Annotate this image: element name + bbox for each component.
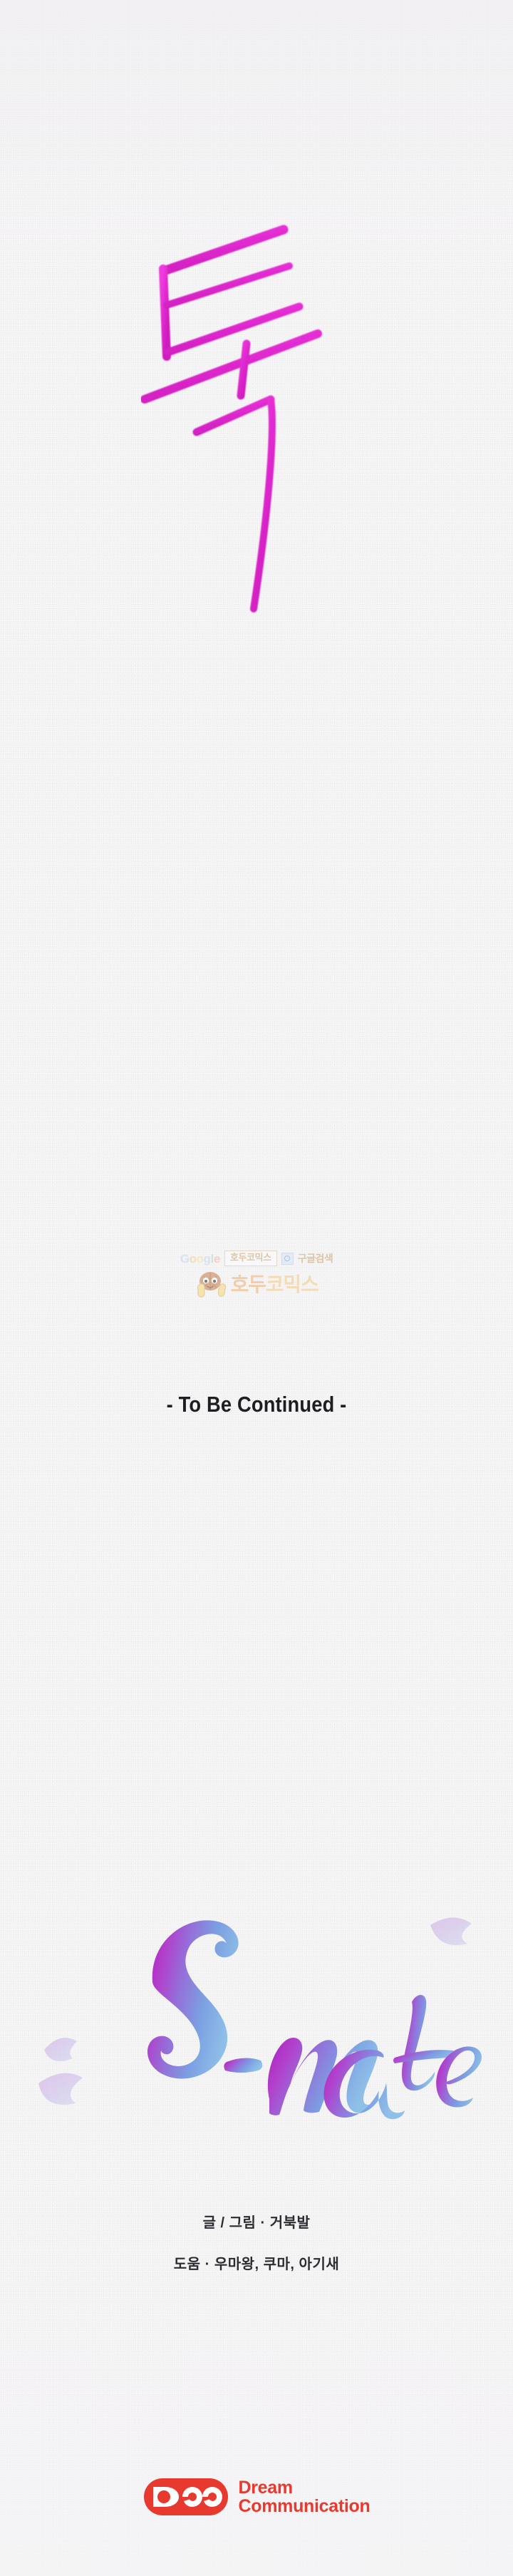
publisher-logo: Dream Communication	[0, 2477, 513, 2517]
watermark-search-row: Google 호두코믹스 구글검색	[180, 1249, 333, 1268]
title-logo-smate	[13, 1911, 500, 2125]
credit-line-assistants: 도움 · 우마왕, 쿠마, 아기새	[0, 2257, 513, 2272]
publisher-name: Dream Communication	[239, 2478, 370, 2515]
dcc-logo-icon	[143, 2477, 229, 2517]
hodu-comics-logotype: 호두코믹스	[231, 1275, 318, 1295]
credits-block: 글 / 그림 · 거북발 도움 · 우마왕, 쿠마, 아기새	[0, 2216, 513, 2272]
hodu-comics-logotype-part2: 코믹스	[266, 1273, 318, 1295]
to-be-continued-text: - To Be Continued -	[31, 1392, 482, 1417]
watermark-brand-row: 호두코믹스	[195, 1269, 318, 1300]
watermark-search-label: 구글검색	[298, 1251, 333, 1266]
hodu-comics-logotype-part1: 호두	[231, 1273, 266, 1295]
walnut-mascot-thumbs-up-icon	[195, 1269, 228, 1300]
sound-effect-panel	[0, 0, 513, 1212]
watermark-search-query: 호두코믹스	[224, 1251, 277, 1266]
magnifier-icon	[281, 1253, 294, 1265]
google-logo: Google	[180, 1253, 220, 1265]
webtoon-page: Google 호두코믹스 구글검색 호두코믹스 - To Be Continue…	[0, 0, 513, 2576]
hodu-comics-watermark: Google 호두코믹스 구글검색 호두코믹스	[0, 1249, 513, 1328]
sfx-handwriting-tok	[141, 93, 383, 649]
credit-line-author: 글 / 그림 · 거북발	[0, 2216, 513, 2230]
